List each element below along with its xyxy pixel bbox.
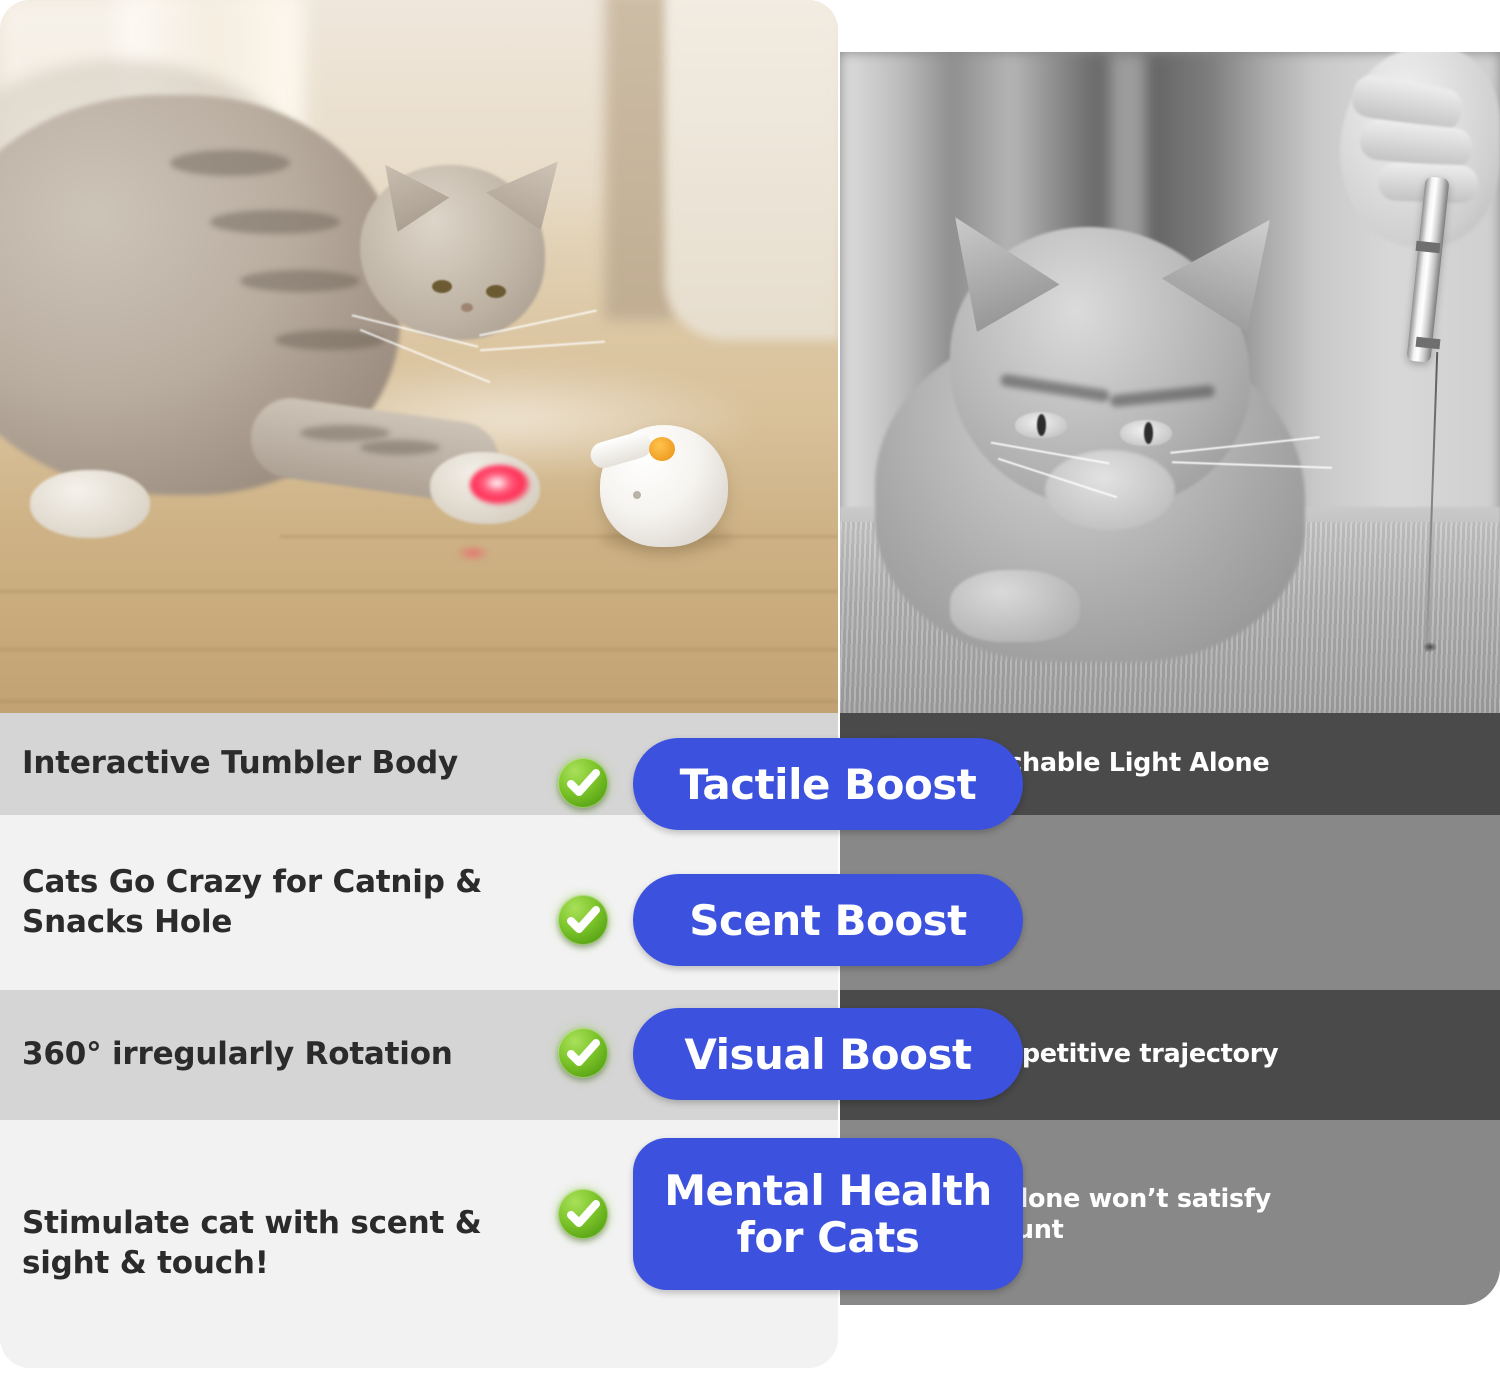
comparison-infographic: Interactive Tumbler Body Cats Go Crazy f… xyxy=(0,0,1500,1379)
cat-watching-laser-pointer-photo xyxy=(840,52,1500,713)
competitor-cons-panel: Untouchable Light Alone None Only repeti… xyxy=(840,52,1500,1305)
pro-feature-label: Interactive Tumbler Body xyxy=(22,744,458,784)
benefit-badge-label: Scent Boost xyxy=(689,896,967,945)
benefit-badge-label: Visual Boost xyxy=(684,1030,971,1079)
cat-playing-with-tumbler-toy-photo xyxy=(0,0,838,713)
check-icon xyxy=(558,895,608,945)
check-icon xyxy=(558,758,608,808)
benefit-badge-tactile-boost: Tactile Boost xyxy=(633,738,1023,830)
benefit-badge-mental-health: Mental Health for Cats xyxy=(633,1138,1023,1290)
check-icon xyxy=(558,1028,608,1078)
laser-dot xyxy=(470,465,530,505)
benefit-badge-label-line2: for Cats xyxy=(664,1214,991,1261)
pro-feature-label: Cats Go Crazy for Catnip & Snacks Hole xyxy=(22,863,552,942)
benefit-badge-label: Tactile Boost xyxy=(680,760,977,809)
benefit-badge-label-line1: Mental Health xyxy=(664,1167,991,1214)
benefit-badge-scent-boost: Scent Boost xyxy=(633,874,1023,966)
benefit-badge-visual-boost: Visual Boost xyxy=(633,1008,1023,1100)
pro-feature-label: Stimulate cat with scent & sight & touch… xyxy=(22,1204,552,1283)
check-icon xyxy=(558,1189,608,1239)
pro-feature-label: 360° irregularly Rotation xyxy=(22,1035,453,1075)
